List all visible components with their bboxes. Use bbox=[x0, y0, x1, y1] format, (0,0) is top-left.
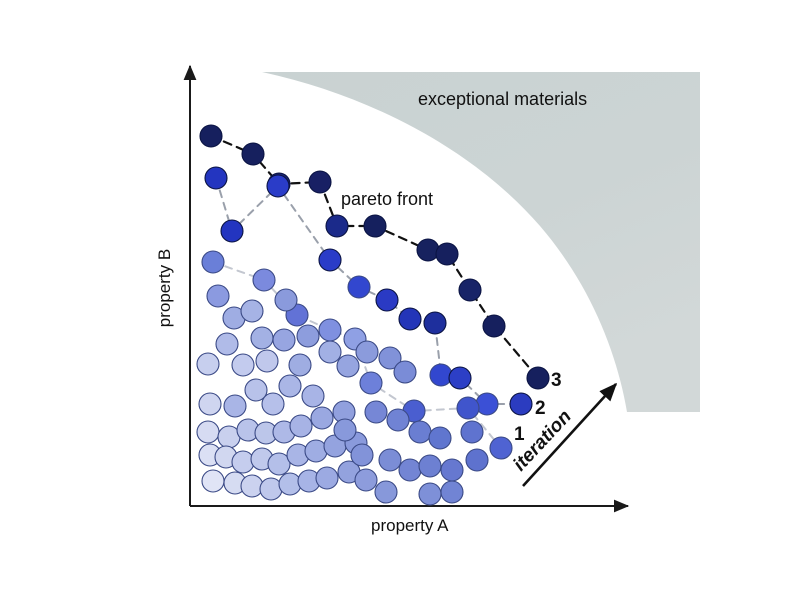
scatter-point bbox=[242, 143, 264, 165]
scatter-point bbox=[375, 481, 397, 503]
scatter-point bbox=[197, 421, 219, 443]
scatter-point bbox=[419, 483, 441, 505]
scatter-point bbox=[202, 470, 224, 492]
scatter-point bbox=[197, 353, 219, 375]
scatter-point bbox=[297, 325, 319, 347]
scatter-point bbox=[360, 372, 382, 394]
scatter-point bbox=[417, 239, 439, 261]
scatter-point bbox=[337, 355, 359, 377]
scatter-point bbox=[275, 289, 297, 311]
scatter-point bbox=[273, 329, 295, 351]
scatter-point bbox=[441, 481, 463, 503]
scatter-point bbox=[441, 459, 463, 481]
scatter-point bbox=[316, 467, 338, 489]
scatter-point bbox=[355, 469, 377, 491]
pareto-front-figure: exceptional materials pareto front prope… bbox=[0, 0, 800, 600]
scatter-point bbox=[476, 393, 498, 415]
scatter-point bbox=[424, 312, 446, 334]
scatter-point bbox=[334, 419, 356, 441]
scatter-point bbox=[466, 449, 488, 471]
scatter-point bbox=[267, 175, 289, 197]
scatter-point bbox=[216, 333, 238, 355]
scatter-point bbox=[290, 415, 312, 437]
scatter-point bbox=[199, 393, 221, 415]
scatter-point bbox=[200, 125, 222, 147]
scatter-point bbox=[483, 315, 505, 337]
scatter-point bbox=[253, 269, 275, 291]
scatter-point bbox=[279, 375, 301, 397]
x-axis-label: property A bbox=[371, 516, 449, 535]
iteration-marker-2: 2 bbox=[535, 398, 546, 419]
scatter-point bbox=[430, 364, 452, 386]
scatter-point bbox=[399, 308, 421, 330]
scatter-point bbox=[205, 167, 227, 189]
scatter-point bbox=[319, 249, 341, 271]
scatter-point bbox=[319, 319, 341, 341]
scatter-point bbox=[409, 421, 431, 443]
scatter-point bbox=[394, 361, 416, 383]
scatter-point bbox=[311, 407, 333, 429]
scatter-point bbox=[260, 478, 282, 500]
scatter-point bbox=[348, 276, 370, 298]
scatter-point bbox=[251, 327, 273, 349]
scatter-point bbox=[326, 215, 348, 237]
iteration-marker-3: 3 bbox=[551, 370, 562, 391]
plot-canvas: exceptional materials pareto front prope… bbox=[0, 0, 800, 600]
scatter-point bbox=[309, 171, 331, 193]
pareto-front-label: pareto front bbox=[341, 189, 433, 209]
scatter-point bbox=[262, 393, 284, 415]
scatter-point bbox=[319, 341, 341, 363]
scatter-point bbox=[202, 251, 224, 273]
scatter-point bbox=[256, 350, 278, 372]
scatter-point bbox=[207, 285, 229, 307]
scatter-point bbox=[224, 395, 246, 417]
scatter-point bbox=[429, 427, 451, 449]
scatter-point bbox=[364, 215, 386, 237]
scatter-point bbox=[279, 473, 301, 495]
scatter-point bbox=[510, 393, 532, 415]
scatter-point bbox=[379, 449, 401, 471]
scatter-point bbox=[376, 289, 398, 311]
scatter-point bbox=[232, 451, 254, 473]
scatter-point bbox=[241, 475, 263, 497]
scatter-point bbox=[461, 421, 483, 443]
scatter-point bbox=[490, 437, 512, 459]
scatter-point bbox=[289, 354, 311, 376]
scatter-point bbox=[457, 397, 479, 419]
scatter-point bbox=[527, 367, 549, 389]
scatter-point bbox=[449, 367, 471, 389]
scatter-point bbox=[351, 444, 373, 466]
scatter-point bbox=[419, 455, 441, 477]
exceptional-materials-label: exceptional materials bbox=[418, 89, 587, 109]
scatter-point bbox=[387, 409, 409, 431]
scatter-point bbox=[459, 279, 481, 301]
iteration-marker-1: 1 bbox=[514, 424, 525, 445]
scatter-point bbox=[232, 354, 254, 376]
scatter-point bbox=[356, 341, 378, 363]
scatter-point bbox=[436, 243, 458, 265]
y-axis-label: property B bbox=[155, 249, 174, 327]
scatter-point bbox=[241, 300, 263, 322]
scatter-point bbox=[302, 385, 324, 407]
scatter-point bbox=[305, 440, 327, 462]
scatter-point bbox=[399, 459, 421, 481]
scatter-point bbox=[365, 401, 387, 423]
scatter-point bbox=[221, 220, 243, 242]
